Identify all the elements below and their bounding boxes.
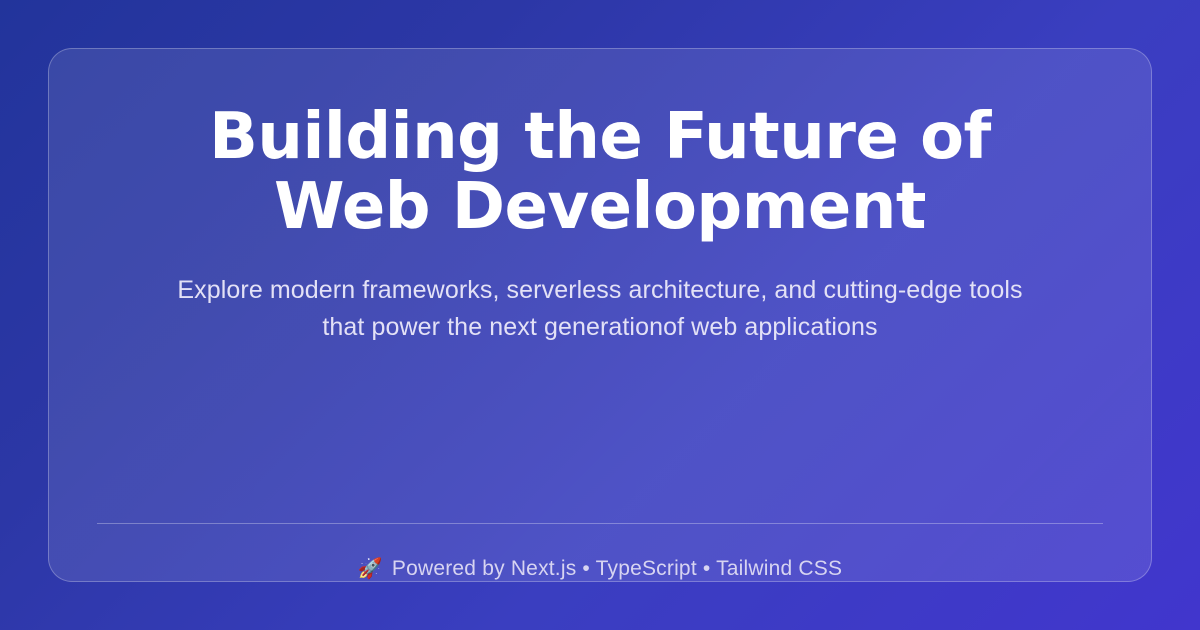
og-image-card: Building the Future of Web Development E… xyxy=(48,48,1152,582)
page-subtitle: Explore modern frameworks, serverless ar… xyxy=(165,272,1035,346)
footer-divider xyxy=(97,523,1103,524)
page-title: Building the Future of Web Development xyxy=(165,102,1035,242)
footer-text: Powered by Next.js • TypeScript • Tailwi… xyxy=(392,557,842,581)
footer: 🚀 Powered by Next.js • TypeScript • Tail… xyxy=(358,557,842,581)
rocket-icon: 🚀 xyxy=(358,559,383,579)
